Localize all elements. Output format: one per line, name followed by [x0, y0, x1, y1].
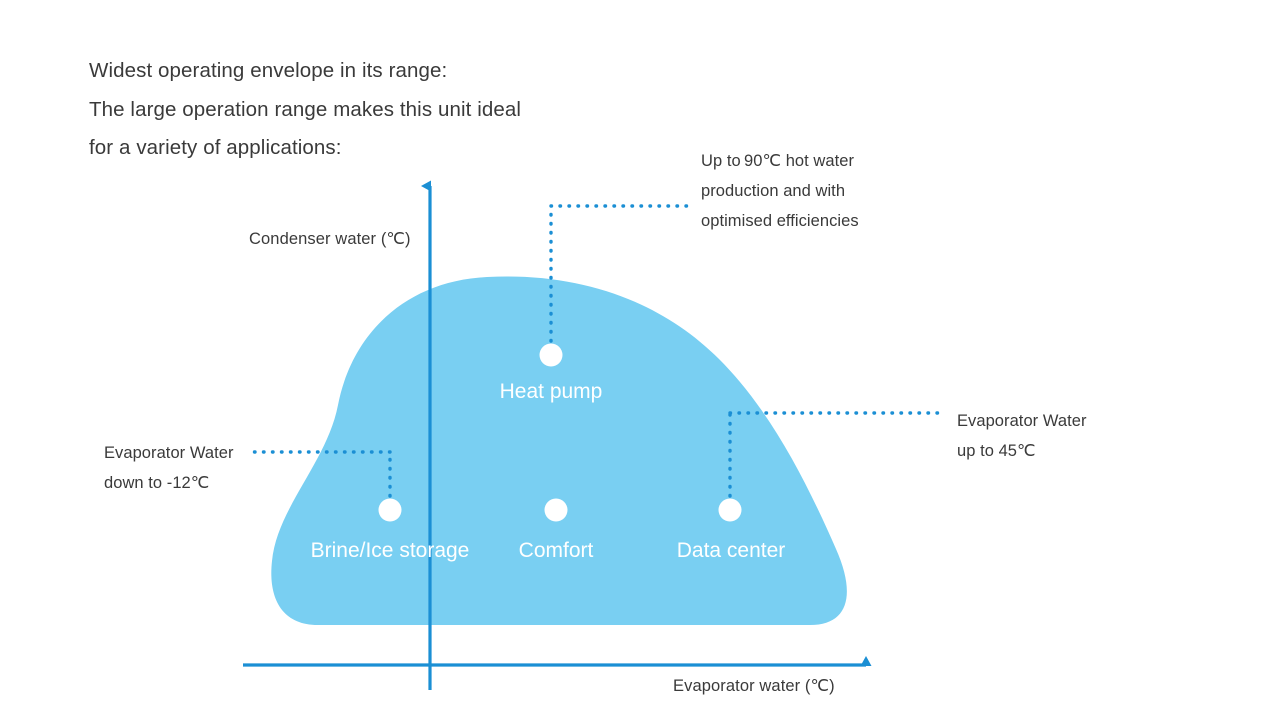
callout-evaporator-min-line-2: down to -12℃	[104, 468, 234, 498]
callout-hot-water-line-1: Up to 90℃ hot water	[701, 146, 859, 176]
callout-evaporator-max-line-2: up to 45℃	[957, 436, 1087, 466]
callout-evaporator-min-line-1: Evaporator Water	[104, 438, 234, 468]
y-axis-label: Condenser water (℃)	[249, 229, 411, 249]
callout-hot-water-line-3: optimised efficiencies	[701, 206, 859, 236]
slide-canvas: Widest operating envelope in its range: …	[0, 0, 1280, 720]
node-label-comfort: Comfort	[466, 536, 646, 565]
node-dot-brine-ice-storage[interactable]	[379, 499, 402, 522]
node-label-brine-ice-storage: Brine/Ice storage	[300, 536, 480, 565]
node-dot-data-center[interactable]	[719, 499, 742, 522]
operating-envelope-shape	[271, 276, 847, 625]
node-label-data-center: Data center	[641, 536, 821, 565]
callout-hot-water-line-2: production and with	[701, 176, 859, 206]
node-dot-heat-pump[interactable]	[540, 344, 563, 367]
callout-hot-water: Up to 90℃ hot water production and with …	[701, 146, 859, 236]
callout-evaporator-max-line-1: Evaporator Water	[957, 406, 1087, 436]
x-axis-label: Evaporator water (℃)	[673, 676, 835, 696]
node-label-heat-pump: Heat pump	[441, 377, 661, 406]
callout-evaporator-min: Evaporator Water down to -12℃	[104, 438, 234, 498]
node-dot-comfort[interactable]	[545, 499, 568, 522]
operating-envelope-diagram	[0, 0, 1280, 720]
callout-evaporator-max: Evaporator Water up to 45℃	[957, 406, 1087, 466]
